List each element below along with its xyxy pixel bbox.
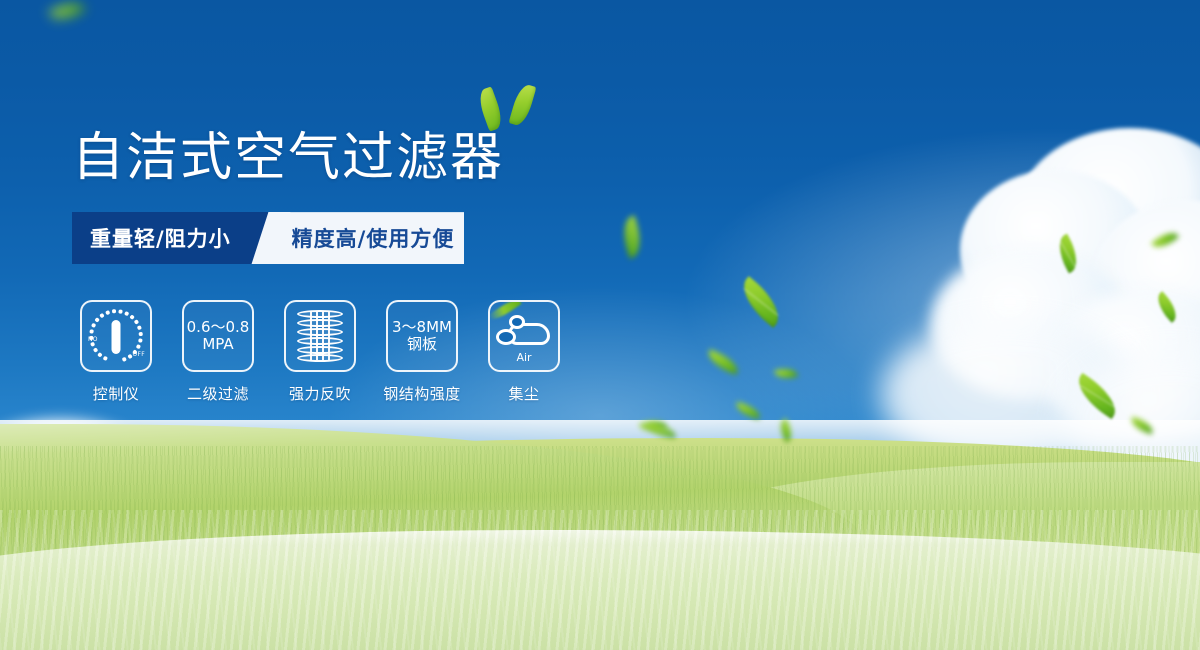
steel-plate-text: 钢板 <box>407 336 437 353</box>
feature-item-controller[interactable]: NO OFF 控制仪 <box>72 300 160 404</box>
subtitle-right-text: 精度高/使用方便 <box>292 223 455 253</box>
gauge-needle-icon <box>112 320 121 354</box>
leaf-icon <box>1052 234 1084 274</box>
meadow-foreground <box>0 530 1200 650</box>
feature-label: 二级过滤 <box>187 383 249 404</box>
subtitle-left-text: 重量轻/阻力小 <box>90 223 231 253</box>
sprout-leaves-icon <box>470 78 544 134</box>
leaf-icon <box>48 0 86 26</box>
pressure-unit-text: MPA <box>202 336 233 353</box>
subtitle-left-panel: 重量轻/阻力小 <box>72 212 268 264</box>
feature-item-dust-collection[interactable]: Air 集尘 <box>480 300 568 404</box>
subtitle-bar: 重量轻/阻力小 精度高/使用方便 <box>72 212 464 264</box>
feature-icon-box: 3～8MM 钢板 <box>386 300 458 372</box>
leaf-icon <box>1070 373 1124 419</box>
subtitle-right-panel: 精度高/使用方便 <box>268 212 464 264</box>
leaf-icon <box>734 402 762 420</box>
feature-icon-box: 0.6～0.8 MPA <box>182 300 254 372</box>
feature-item-blowback[interactable]: 强力反吹 <box>276 300 364 404</box>
cloud-air-icon: Air <box>494 309 554 363</box>
title-wrap: 自洁式空气过滤器 <box>72 130 712 186</box>
feature-label: 钢结构强度 <box>383 383 461 404</box>
air-caption: Air <box>494 351 554 364</box>
feature-icon-box: NO OFF <box>80 300 152 372</box>
banner-content: 自洁式空气过滤器 重量轻/阻力小 精度高/使用方便 <box>72 130 712 404</box>
feature-item-filtration[interactable]: 0.6～0.8 MPA 二级过滤 <box>174 300 262 404</box>
feature-list: NO OFF 控制仪 0.6～0.8 MPA 二级过滤 <box>72 300 712 404</box>
gauge-label-off: OFF <box>132 351 145 358</box>
leaf-icon <box>774 366 798 381</box>
feature-icon-box: Air <box>488 300 560 372</box>
sprout-leaf-right-icon <box>509 82 537 127</box>
cloud-shape <box>1090 200 1200 375</box>
gauge-icon: NO OFF <box>88 308 144 364</box>
leaf-icon <box>1152 291 1182 323</box>
gauge-label-no: NO <box>88 336 98 343</box>
grass-meadow <box>0 420 1200 650</box>
page-title: 自洁式空气过滤器 <box>72 130 712 186</box>
feature-label: 集尘 <box>508 383 539 404</box>
coil-blowback-icon <box>297 310 343 362</box>
feature-icon-box <box>284 300 356 372</box>
cloud-shape <box>960 170 1150 330</box>
cloud-shape <box>1040 290 1200 440</box>
cloud-shape <box>930 250 1130 400</box>
leaf-icon <box>733 276 788 328</box>
sprout-leaf-left-icon <box>475 86 505 131</box>
feature-label: 控制仪 <box>93 383 140 404</box>
feature-item-steel-strength[interactable]: 3～8MM 钢板 钢结构强度 <box>378 300 466 404</box>
steel-thickness-text: 3～8MM <box>392 319 452 336</box>
cloud-shape <box>1015 128 1200 308</box>
feature-label: 强力反吹 <box>289 383 351 404</box>
product-hero-banner: 自洁式空气过滤器 重量轻/阻力小 精度高/使用方便 <box>0 0 1200 650</box>
pressure-range-text: 0.6～0.8 <box>187 319 250 336</box>
leaf-icon <box>1151 227 1179 252</box>
